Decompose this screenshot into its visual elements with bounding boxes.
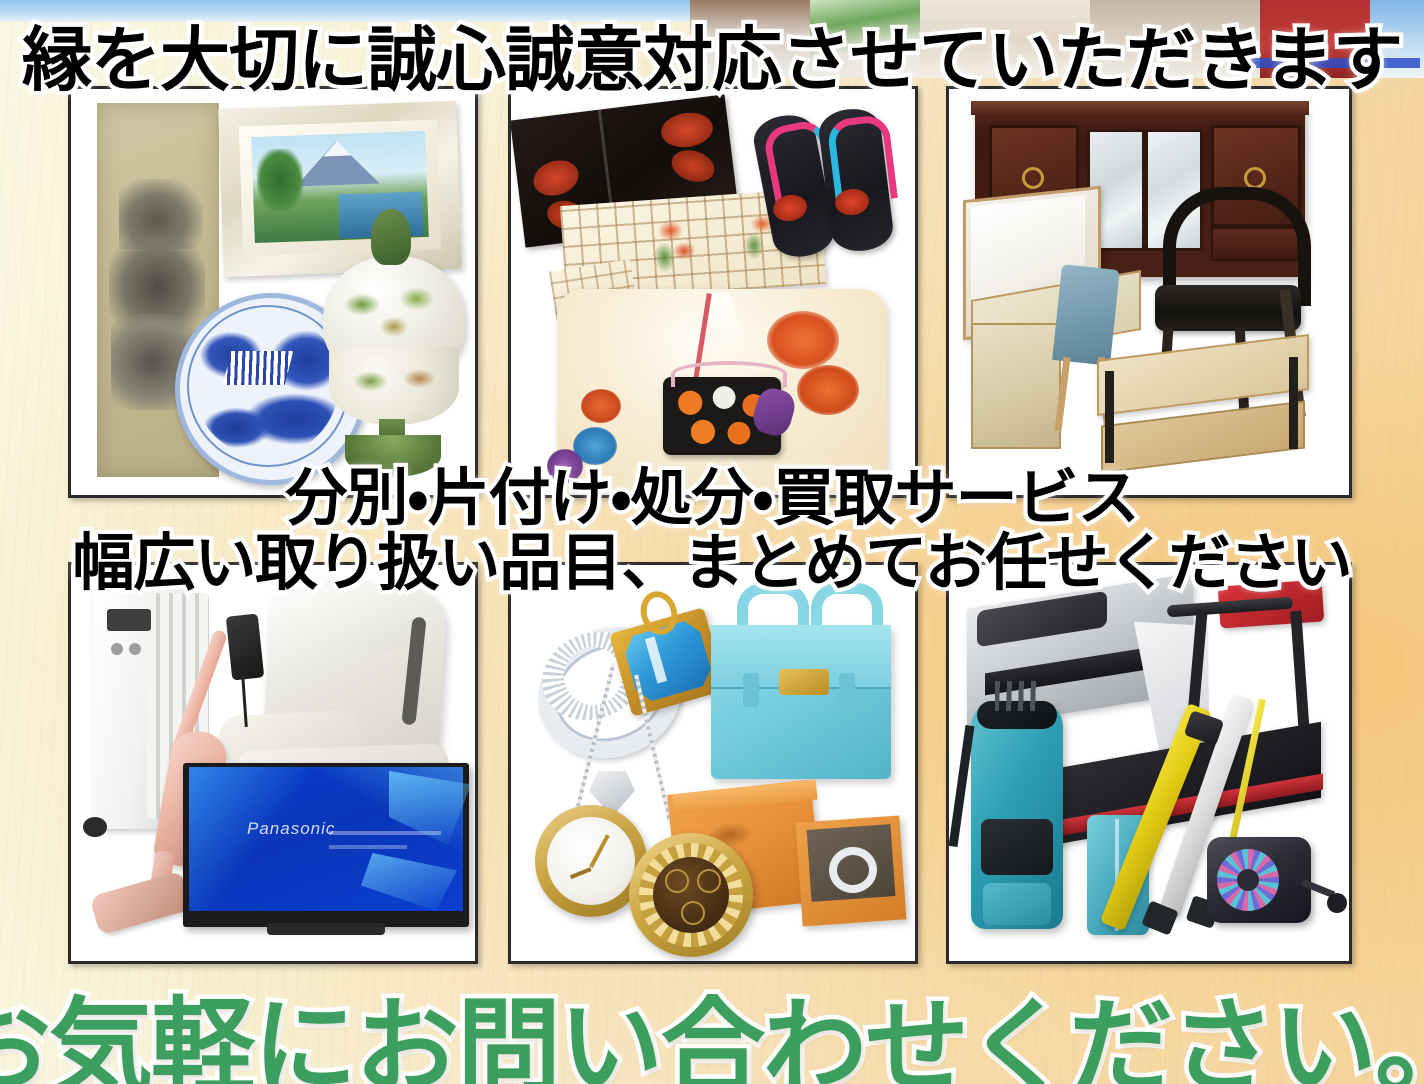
appliances-photo: Panasonic — [71, 565, 475, 961]
golf-bag-pocket — [983, 883, 1051, 925]
vacuum-floor-head — [89, 871, 192, 936]
kimono-flower — [797, 365, 859, 415]
dresser-chair — [1052, 264, 1120, 366]
heater-knob — [129, 643, 141, 655]
heater-display — [107, 609, 151, 631]
bag-cord — [671, 361, 787, 387]
photo-panel-furniture — [946, 86, 1352, 498]
urn-body-pattern — [341, 357, 447, 411]
handbag-strap — [743, 673, 759, 707]
photo-panel-luxury — [508, 562, 918, 964]
headline-text: 縁を大切に誠心誠意対応させていただきます — [22, 4, 1402, 105]
obi-floral-motif — [647, 211, 707, 277]
dresser-body — [971, 323, 1061, 449]
antiques-photo — [71, 89, 475, 495]
reel-spool-center — [1237, 869, 1259, 891]
table-leg — [1289, 357, 1298, 449]
flyer-canvas: Panasonic — [0, 0, 1424, 1084]
golf-clubs — [995, 681, 1041, 711]
sports-photo — [949, 565, 1349, 961]
kimono-flower — [581, 389, 621, 423]
urn-finial — [371, 209, 411, 265]
watch-subdial — [681, 901, 705, 925]
heater-knob — [111, 643, 123, 655]
service-line-2: 幅広い取り扱い品目、まとめてお任せください — [72, 512, 1351, 602]
kimono-flower — [767, 311, 839, 369]
photo-panel-appliances: Panasonic — [68, 562, 478, 964]
kimono-photo — [511, 89, 915, 495]
watch-subdial — [697, 869, 721, 893]
contact-call-to-action: お気軽にお問い合わせください。 — [0, 962, 1424, 1084]
tv-stand — [267, 923, 385, 935]
furniture-photo — [949, 89, 1349, 495]
handbag-strap — [839, 673, 855, 707]
painting-snow-cap — [323, 141, 352, 157]
tv-screen-text-line — [329, 831, 441, 835]
photo-panel-sports — [946, 562, 1352, 964]
heater-caster — [83, 817, 107, 837]
plate-boat-motif — [223, 351, 293, 385]
painting-trees — [256, 148, 304, 212]
cabinet-handle — [1022, 167, 1044, 189]
reel-handle-knob — [1327, 893, 1347, 913]
handbag-lock — [779, 669, 829, 695]
photo-panel-antiques — [68, 86, 478, 498]
luxury-photo — [511, 565, 915, 961]
watch-subdial — [665, 869, 689, 893]
tv-brand-logo: Panasonic — [247, 819, 335, 839]
photo-panel-kimono — [508, 86, 918, 498]
tv-screen-text-line — [329, 845, 407, 849]
golf-bag-pocket — [981, 819, 1053, 875]
urn-lid-pattern — [337, 275, 451, 349]
chair-remote — [226, 614, 265, 681]
cabinet-handle — [1244, 167, 1266, 189]
